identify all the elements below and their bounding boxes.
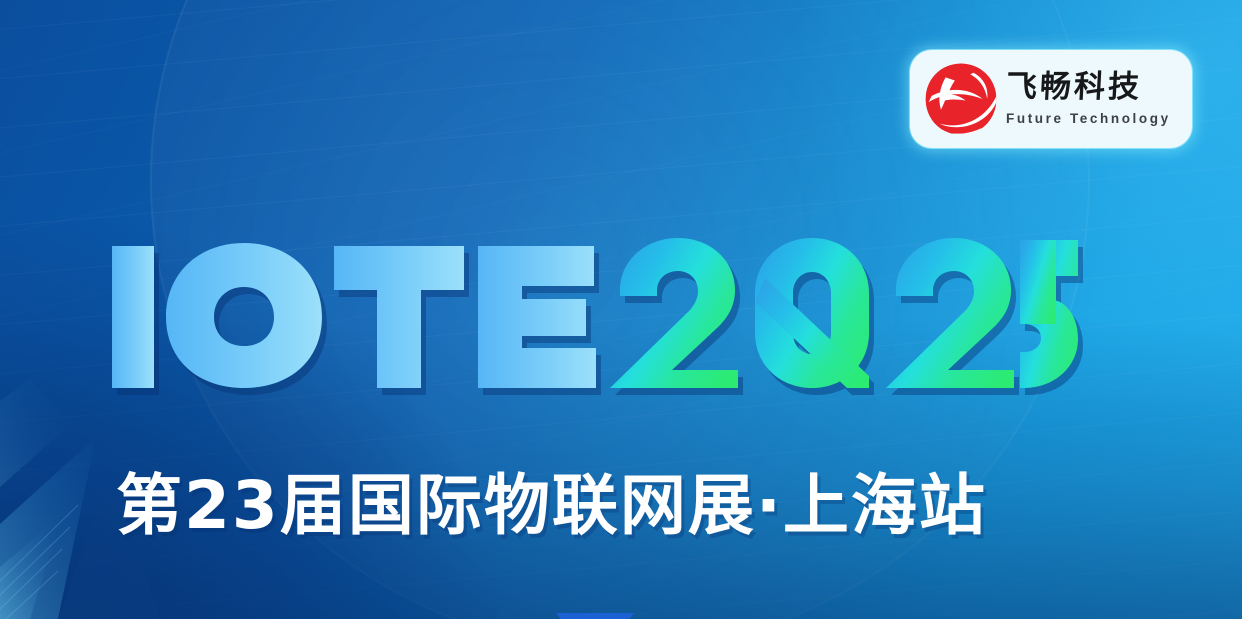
event-subtitle: 第23届国际物联网展·上海站 [116, 452, 987, 548]
iote-2025-event-banner: 飞畅科技 Future Technology [0, 0, 1242, 619]
partner-logo-text: 飞畅科技 Future Technology [1006, 72, 1171, 126]
bottom-accent-bar [556, 613, 634, 619]
partner-name-en: Future Technology [1006, 112, 1171, 126]
iote-2025-wordmark-graphic [112, 238, 1078, 388]
event-wordmark [112, 238, 1078, 388]
partner-name-cn: 飞畅科技 [1005, 72, 1171, 103]
flying-crane-mark-icon [922, 62, 1000, 136]
partner-logo-badge[interactable]: 飞畅科技 Future Technology [910, 50, 1192, 148]
